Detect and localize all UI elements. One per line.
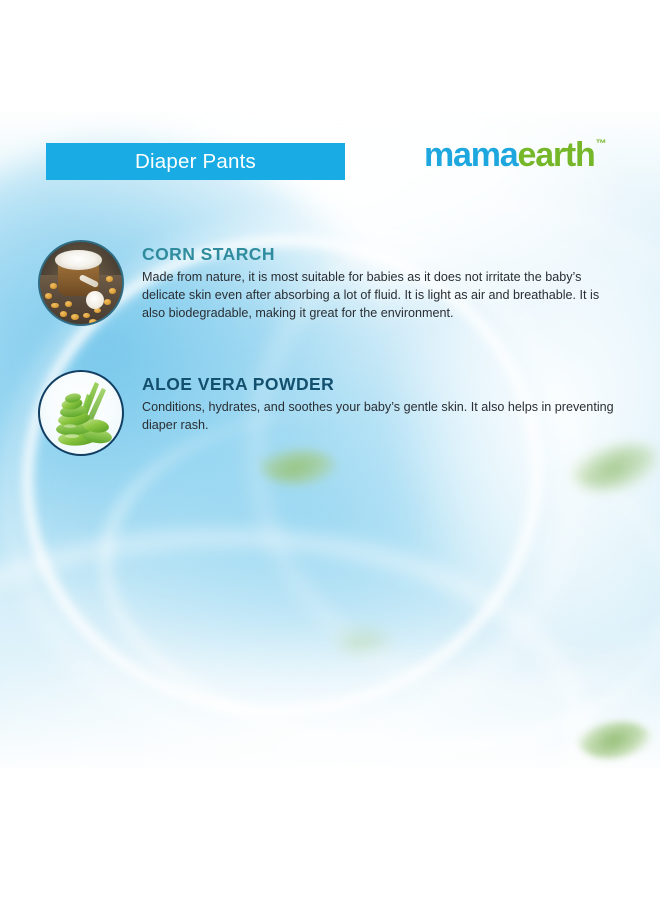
leaf-icon — [575, 708, 655, 768]
brand-logo: mama earth ™ — [424, 138, 607, 172]
feature-description: Conditions, hydrates, and soothes your b… — [142, 399, 616, 435]
product-title-label: Diaper Pants — [135, 150, 256, 174]
feature-row: CORN STARCH Made from nature, it is most… — [38, 240, 616, 326]
product-title-banner: Diaper Pants — [46, 143, 345, 180]
aloe-vera-leaf-icon — [38, 370, 124, 456]
brand-name-part-one: mama — [424, 138, 517, 172]
background-ring-sweep — [0, 505, 603, 768]
feature-title: CORN STARCH — [142, 245, 616, 264]
feature-description: Made from nature, it is most suitable fo… — [142, 269, 616, 323]
background-glow-bottom — [0, 632, 660, 768]
corn-starch-photo-icon — [38, 240, 124, 326]
feature-text-block: CORN STARCH Made from nature, it is most… — [142, 240, 616, 323]
product-infographic-canvas: Diaper Pants mama earth ™ — [0, 0, 660, 900]
brand-name-part-two: earth — [517, 138, 594, 172]
panel-header: Diaper Pants mama earth ™ — [0, 112, 660, 192]
leaf-icon — [333, 621, 395, 661]
blue-gradient-panel: Diaper Pants mama earth ™ — [0, 112, 660, 768]
feature-text-block: ALOE VERA POWDER Conditions, hydrates, a… — [142, 370, 616, 435]
feature-row: ALOE VERA POWDER Conditions, hydrates, a… — [38, 370, 616, 456]
trademark-icon: ™ — [596, 139, 607, 150]
feature-title: ALOE VERA POWDER — [142, 375, 616, 394]
